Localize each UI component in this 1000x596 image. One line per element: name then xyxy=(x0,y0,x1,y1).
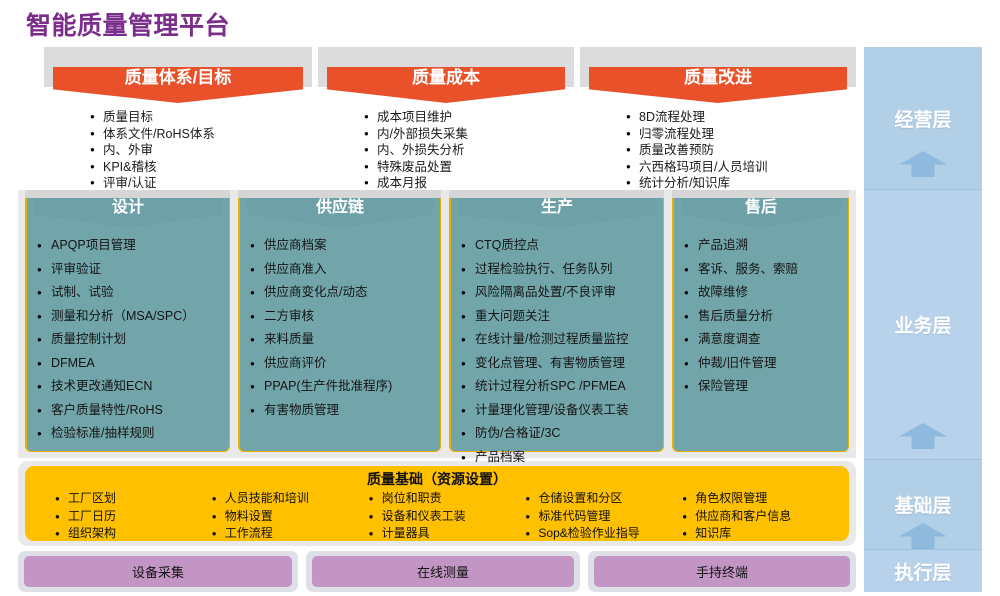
execution-item-label: 在线测量 xyxy=(417,562,469,581)
list-item[interactable]: 来料质量 xyxy=(250,328,436,352)
list-item[interactable]: 内、外审 xyxy=(90,142,215,159)
management-card-quality-cost[interactable]: 质量成本 成本项目维护 内/外部损失采集 内、外损失分析 特殊废品处置 成本月报 xyxy=(318,47,574,189)
foundation-columns: 工厂区划 工厂日历 组织架构 人员技能和培训 物料设置 工作流程 岗位和职责 设… xyxy=(55,490,839,543)
foundation-column: 角色权限管理 供应商和客户信息 知识库 xyxy=(682,490,839,543)
card-banner: 质量改进 xyxy=(589,67,847,103)
list-item[interactable]: 质量改善预防 xyxy=(626,142,767,159)
list-item[interactable]: 工作流程 xyxy=(212,525,369,543)
list-item[interactable]: 产品档案 xyxy=(461,446,659,470)
list-item[interactable]: 计量理化管理/设备仪表工装 xyxy=(461,399,659,423)
column-header: 生产 xyxy=(458,198,656,228)
list-item[interactable]: 内、外损失分析 xyxy=(364,142,468,159)
list-item[interactable]: 防伪/合格证/3C xyxy=(461,422,659,446)
list-item[interactable]: 客户质量特性/RoHS xyxy=(37,399,225,423)
list-item[interactable]: 检验标准/抽样规则 xyxy=(37,422,225,446)
business-column-production[interactable]: 生产 CTQ质控点 过程检验执行、任务队列 风险隔离品处置/不良评审 重大问题关… xyxy=(449,190,664,458)
list-item[interactable]: 体系文件/RoHS体系 xyxy=(90,126,215,143)
list-item[interactable]: 评审验证 xyxy=(37,258,225,282)
business-column-design[interactable]: 设计 APQP项目管理 评审验证 试制、试验 测量和分析（MSA/SPC） 质量… xyxy=(25,190,230,458)
list-item[interactable]: 仲裁/旧件管理 xyxy=(684,352,844,376)
list-item[interactable]: 产品追溯 xyxy=(684,234,844,258)
list-item[interactable]: 故障维修 xyxy=(684,281,844,305)
list-item[interactable]: 工厂区划 xyxy=(55,490,212,508)
list-item[interactable]: 供应商变化点/动态 xyxy=(250,281,436,305)
column-body: 生产 CTQ质控点 过程检验执行、任务队列 风险隔离品处置/不良评审 重大问题关… xyxy=(449,198,664,452)
column-header: 售后 xyxy=(681,198,841,228)
list-item[interactable]: PPAP(生产件批准程序) xyxy=(250,375,436,399)
column-item-list: 供应商档案 供应商准入 供应商变化点/动态 二方审核 来料质量 供应商评价 PP… xyxy=(250,234,436,422)
rail-segment-label: 经营层 xyxy=(894,105,951,132)
page-title: 智能质量管理平台 xyxy=(26,6,230,42)
column-body: 售后 产品追溯 客诉、服务、索赔 故障维修 售后质量分析 满意度调查 仲裁/旧件… xyxy=(672,198,849,452)
list-item[interactable]: 重大问题关注 xyxy=(461,305,659,329)
management-card-quality-system[interactable]: 质量体系/目标 质量目标 体系文件/RoHS体系 内、外审 KPI&稽核 评审/… xyxy=(44,47,312,189)
list-item[interactable]: 物料设置 xyxy=(212,508,369,526)
list-item[interactable]: 测量和分析（MSA/SPC） xyxy=(37,305,225,329)
list-item[interactable]: 成本项目维护 xyxy=(364,109,468,126)
foundation-column: 工厂区划 工厂日历 组织架构 xyxy=(55,490,212,543)
list-item[interactable]: 技术更改通知ECN xyxy=(37,375,225,399)
list-item[interactable]: KPI&稽核 xyxy=(90,159,215,176)
card-banner: 质量体系/目标 xyxy=(53,67,303,103)
business-column-supply-chain[interactable]: 供应链 供应商档案 供应商准入 供应商变化点/动态 二方审核 来料质量 供应商评… xyxy=(238,190,441,458)
list-item[interactable]: 工厂日历 xyxy=(55,508,212,526)
list-item[interactable]: 特殊废品处置 xyxy=(364,159,468,176)
foundation-layer: 质量基础（资源设置） 工厂区划 工厂日历 组织架构 人员技能和培训 物料设置 工… xyxy=(18,461,856,546)
list-item[interactable]: 保险管理 xyxy=(684,375,844,399)
list-item[interactable]: 人员技能和培训 xyxy=(212,490,369,508)
execution-item-handheld-terminal[interactable]: 手持终端 xyxy=(588,551,856,592)
execution-item-label: 设备采集 xyxy=(132,562,184,581)
list-item[interactable]: APQP项目管理 xyxy=(37,234,225,258)
rail-segment-business[interactable]: 业务层 xyxy=(864,190,982,459)
foundation-box: 质量基础（资源设置） 工厂区划 工厂日历 组织架构 人员技能和培训 物料设置 工… xyxy=(25,466,849,541)
business-column-after-sales[interactable]: 售后 产品追溯 客诉、服务、索赔 故障维修 售后质量分析 满意度调查 仲裁/旧件… xyxy=(672,190,849,458)
column-title: 生产 xyxy=(541,198,573,218)
list-item[interactable]: 有害物质管理 xyxy=(250,399,436,423)
rail-segment-label: 基础层 xyxy=(894,491,951,518)
management-card-quality-improvement[interactable]: 质量改进 8D流程处理 归零流程处理 质量改善预防 六西格玛项目/人员培训 统计… xyxy=(580,47,856,189)
foundation-column: 仓储设置和分区 标准代码管理 Sop&检验作业指导 xyxy=(525,490,682,543)
foundation-column: 人员技能和培训 物料设置 工作流程 xyxy=(212,490,369,543)
list-item[interactable]: CTQ质控点 xyxy=(461,234,659,258)
column-header: 设计 xyxy=(34,198,222,228)
execution-item-label: 手持终端 xyxy=(696,562,748,581)
list-item[interactable]: 内/外部损失采集 xyxy=(364,126,468,143)
list-item[interactable]: 风险隔离品处置/不良评审 xyxy=(461,281,659,305)
list-item[interactable]: 质量控制计划 xyxy=(37,328,225,352)
column-item-list: 产品追溯 客诉、服务、索赔 故障维修 售后质量分析 满意度调查 仲裁/旧件管理 … xyxy=(684,234,844,399)
list-item[interactable]: 试制、试验 xyxy=(37,281,225,305)
list-item[interactable]: 统计过程分析SPC /PFMEA xyxy=(461,375,659,399)
list-item[interactable]: 设备和仪表工装 xyxy=(369,508,526,526)
rail-segment-label: 执行层 xyxy=(894,558,951,585)
column-item-list: CTQ质控点 过程检验执行、任务队列 风险隔离品处置/不良评审 重大问题关注 在… xyxy=(461,234,659,469)
list-item[interactable]: 角色权限管理 xyxy=(682,490,839,508)
column-title: 供应链 xyxy=(316,198,364,218)
execution-item-body: 手持终端 xyxy=(594,556,850,587)
foundation-column: 岗位和职责 设备和仪表工装 计量器具 xyxy=(369,490,526,543)
column-title: 售后 xyxy=(745,198,777,218)
card-title: 质量体系/目标 xyxy=(125,67,232,89)
card-banner: 质量成本 xyxy=(327,67,565,103)
list-item[interactable]: 8D流程处理 xyxy=(626,109,767,126)
column-body: 设计 APQP项目管理 评审验证 试制、试验 测量和分析（MSA/SPC） 质量… xyxy=(25,198,230,452)
execution-item-online-measurement[interactable]: 在线测量 xyxy=(306,551,580,592)
execution-item-device-collection[interactable]: 设备采集 xyxy=(18,551,298,592)
list-item[interactable]: 供应商评价 xyxy=(250,352,436,376)
list-item[interactable]: 供应商和客户信息 xyxy=(682,508,839,526)
list-item[interactable]: 六西格玛项目/人员培训 xyxy=(626,159,767,176)
list-item[interactable]: DFMEA xyxy=(37,352,225,376)
business-layer: 设计 APQP项目管理 评审验证 试制、试验 测量和分析（MSA/SPC） 质量… xyxy=(18,190,856,458)
card-title: 质量改进 xyxy=(684,67,752,89)
list-item[interactable]: 二方审核 xyxy=(250,305,436,329)
list-item[interactable]: 岗位和职责 xyxy=(369,490,526,508)
list-item[interactable]: 组织架构 xyxy=(55,525,212,543)
card-title: 质量成本 xyxy=(412,67,480,89)
list-item[interactable]: 客诉、服务、索赔 xyxy=(684,258,844,282)
list-item[interactable]: 售后质量分析 xyxy=(684,305,844,329)
execution-item-body: 在线测量 xyxy=(312,556,574,587)
column-item-list: APQP项目管理 评审验证 试制、试验 测量和分析（MSA/SPC） 质量控制计… xyxy=(37,234,225,446)
list-item[interactable]: 计量器具 xyxy=(369,525,526,543)
list-item[interactable]: 供应商准入 xyxy=(250,258,436,282)
execution-layer: 设备采集 在线测量 手持终端 xyxy=(18,551,856,592)
management-layer: 质量体系/目标 质量目标 体系文件/RoHS体系 内、外审 KPI&稽核 评审/… xyxy=(18,47,856,189)
list-item[interactable]: 质量目标 xyxy=(90,109,215,126)
list-item[interactable]: 过程检验执行、任务队列 xyxy=(461,258,659,282)
list-item[interactable]: 仓储设置和分区 xyxy=(525,490,682,508)
layer-rail: 经营层 业务层 基础层 执行层 xyxy=(864,47,982,592)
column-header: 供应链 xyxy=(247,198,433,228)
list-item[interactable]: 满意度调查 xyxy=(684,328,844,352)
list-item[interactable]: 变化点管理、有害物质管理 xyxy=(461,352,659,376)
card-item-list: 质量目标 体系文件/RoHS体系 内、外审 KPI&稽核 评审/认证 xyxy=(90,109,215,192)
list-item[interactable]: 归零流程处理 xyxy=(626,126,767,143)
execution-item-body: 设备采集 xyxy=(24,556,292,587)
foundation-title: 质量基础（资源设置） xyxy=(25,469,849,489)
list-item[interactable]: Sop&检验作业指导 xyxy=(525,525,682,543)
diagram-root: 智能质量管理平台 质量体系/目标 质量目标 体系文件/RoHS体系 内、外审 K… xyxy=(0,0,1000,596)
column-title: 设计 xyxy=(112,198,144,218)
column-body: 供应链 供应商档案 供应商准入 供应商变化点/动态 二方审核 来料质量 供应商评… xyxy=(238,198,441,452)
rail-segment-execution[interactable]: 执行层 xyxy=(864,550,982,592)
list-item[interactable]: 供应商档案 xyxy=(250,234,436,258)
card-item-list: 8D流程处理 归零流程处理 质量改善预防 六西格玛项目/人员培训 统计分析/知识… xyxy=(626,109,767,192)
list-item[interactable]: 在线计量/检测过程质量监控 xyxy=(461,328,659,352)
list-item[interactable]: 标准代码管理 xyxy=(525,508,682,526)
card-item-list: 成本项目维护 内/外部损失采集 内、外损失分析 特殊废品处置 成本月报 xyxy=(364,109,468,192)
rail-segment-label: 业务层 xyxy=(894,311,951,338)
list-item[interactable]: 知识库 xyxy=(682,525,839,543)
